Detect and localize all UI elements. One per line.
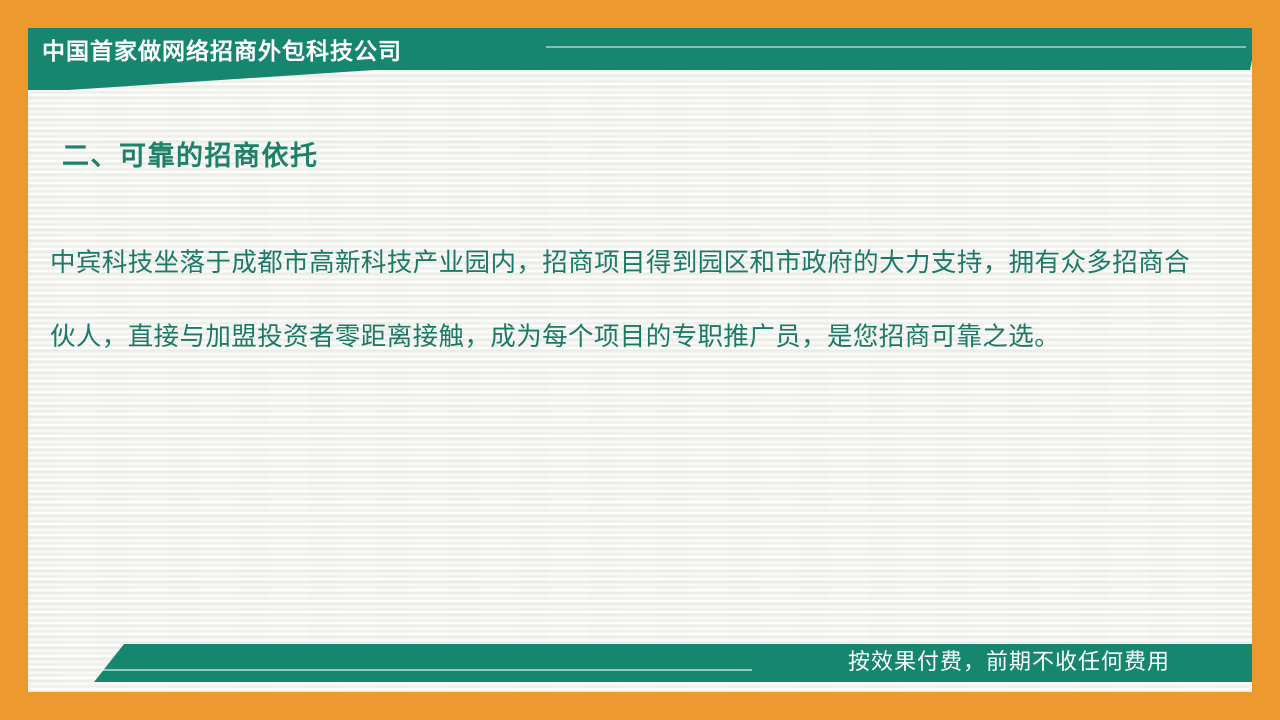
footer-ribbon (28, 644, 848, 692)
header-title: 中国首家做网络招商外包科技公司 (42, 38, 402, 64)
footer-tagline: 按效果付费，前期不收任何费用 (848, 645, 1170, 679)
section-heading: 二、可靠的招商依托 (62, 134, 319, 173)
body-paragraph: 中宾科技坐落于成都市高新科技产业园内，招商项目得到园区和市政府的大力支持，拥有众… (50, 226, 1190, 374)
slide-canvas: 中国首家做网络招商外包科技公司 二、可靠的招商依托 中宾科技坐落于成都市高新科技… (0, 0, 1280, 720)
header-divider-line (546, 46, 1246, 48)
footer-divider-line (102, 669, 752, 671)
body-paragraph-block: 中宾科技坐落于成都市高新科技产业园内，招商项目得到园区和市政府的大力支持，拥有众… (50, 226, 1190, 374)
